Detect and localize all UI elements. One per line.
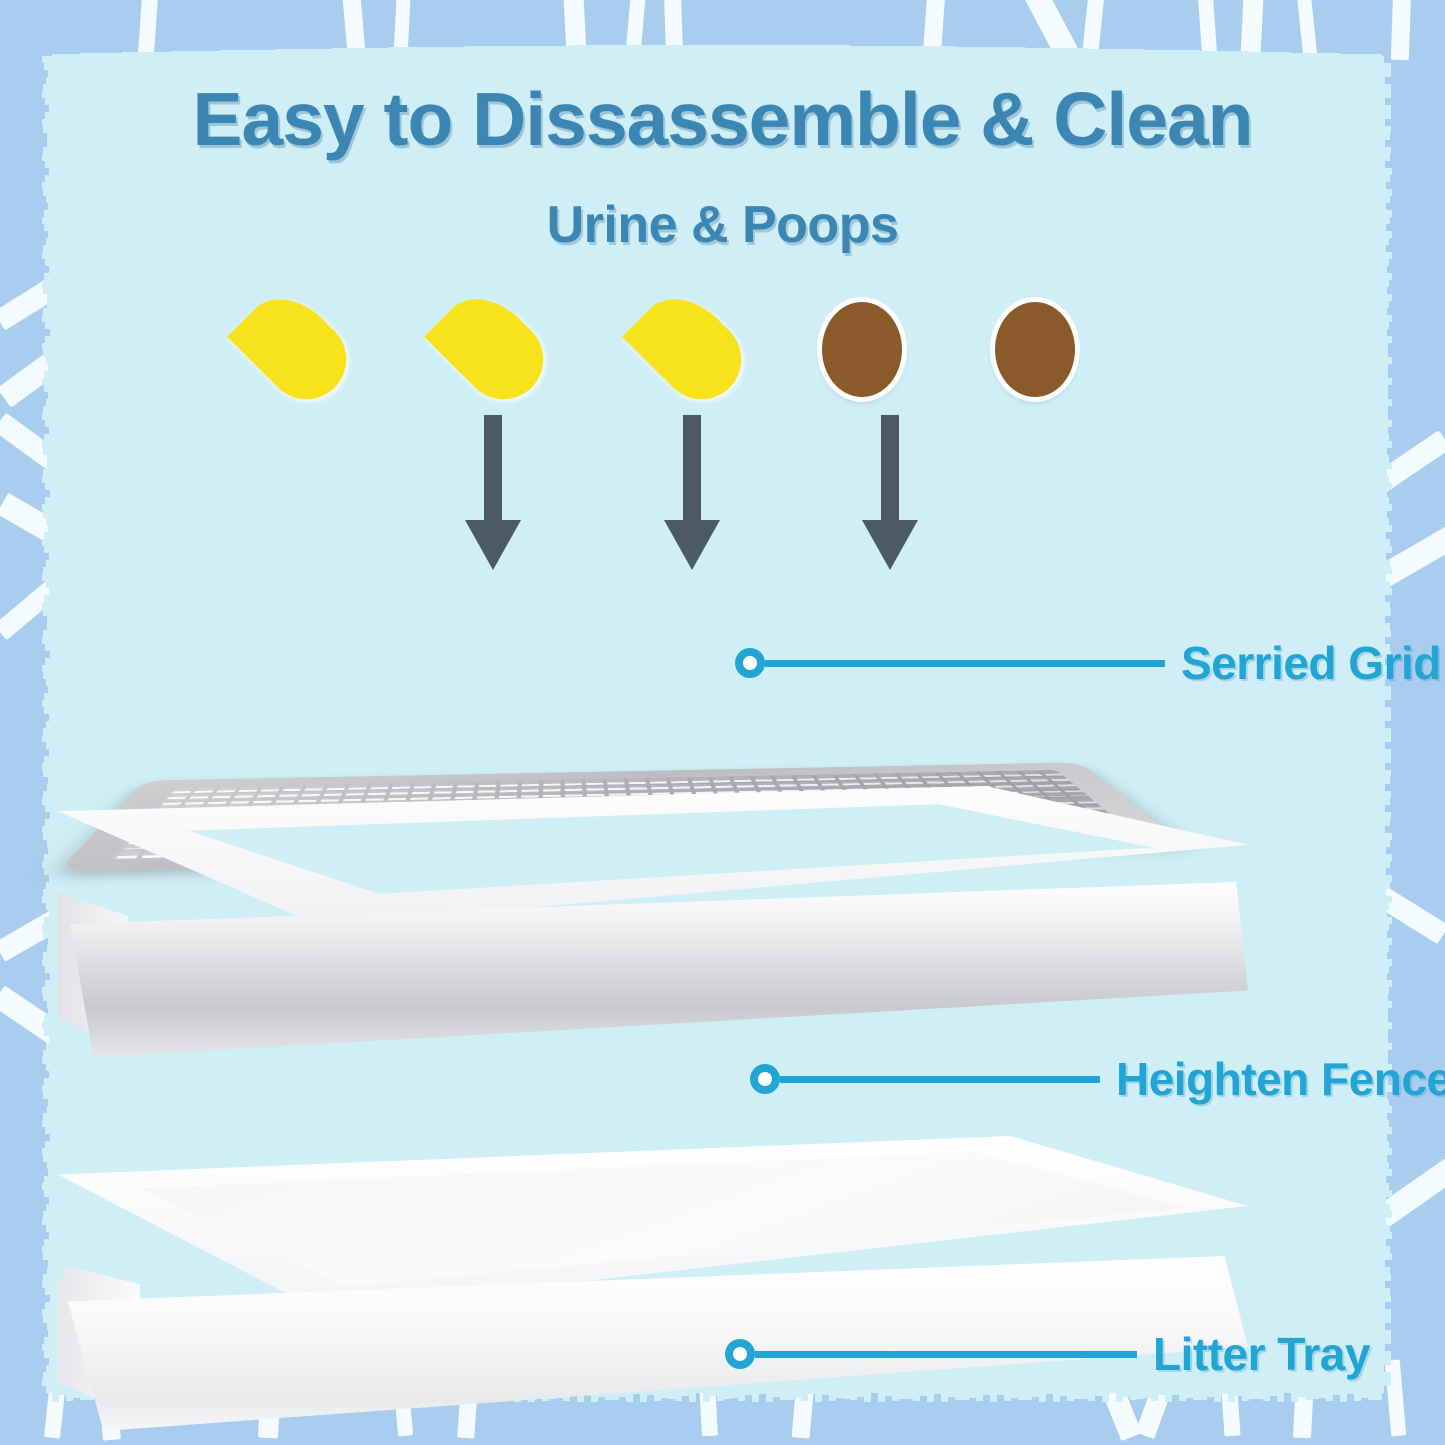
deckle-tooth xyxy=(1380,623,1390,630)
deckle-tooth xyxy=(43,1092,54,1099)
deckle-tooth xyxy=(59,54,66,58)
deckle-tooth xyxy=(1151,50,1158,58)
deckle-tooth xyxy=(1380,525,1392,532)
deckle-tooth xyxy=(46,560,54,567)
deckle-tooth xyxy=(696,45,703,58)
deckle-tooth xyxy=(304,49,311,58)
deckle-tooth xyxy=(857,46,864,58)
deckle-tooth xyxy=(332,48,339,58)
callout-label: Litter Tray xyxy=(1153,1327,1370,1381)
deckle-tooth xyxy=(395,47,402,58)
deckle-tooth xyxy=(892,46,899,58)
callout-leader-line xyxy=(780,1076,1100,1083)
deckle-tooth xyxy=(787,45,794,58)
deckle-tooth xyxy=(1380,469,1387,476)
deckle-tooth xyxy=(1380,1379,1391,1386)
deckle-tooth xyxy=(220,50,227,58)
deckle-tooth xyxy=(44,917,54,924)
deckle-tooth xyxy=(45,966,54,973)
deckle-tooth xyxy=(47,623,54,630)
deckle-tooth xyxy=(1380,875,1392,882)
deckle-tooth xyxy=(241,50,248,58)
deckle-tooth xyxy=(1380,441,1392,448)
deckle-tooth xyxy=(451,47,458,58)
deckle-tooth xyxy=(178,51,185,58)
deckle-tooth xyxy=(44,532,54,539)
deckle-tooth xyxy=(46,1064,54,1071)
deckle-tooth xyxy=(1380,168,1392,175)
deckle-tooth xyxy=(1319,53,1326,58)
deckle-tooth xyxy=(48,392,54,399)
deckle-tooth xyxy=(1298,1389,1305,1397)
deckle-tooth xyxy=(899,46,906,58)
deckle-tooth xyxy=(920,46,927,58)
deckle-tooth xyxy=(1380,1211,1392,1218)
deckle-tooth xyxy=(1221,51,1228,58)
callout-label: Heighten Fence xyxy=(1116,1052,1445,1106)
deckle-tooth xyxy=(50,329,54,336)
deckle-tooth xyxy=(47,1106,54,1113)
deckle-tooth xyxy=(801,45,808,58)
deckle-tooth xyxy=(48,1008,54,1015)
deckle-tooth xyxy=(752,45,759,58)
deckle-tooth xyxy=(913,46,920,58)
deckle-tooth xyxy=(1380,280,1389,287)
deckle-tooth xyxy=(381,48,388,58)
deckle-tooth xyxy=(521,46,528,58)
deckle-tooth xyxy=(1380,609,1391,616)
deckle-tooth xyxy=(1298,53,1305,58)
deckle-tooth xyxy=(1333,53,1340,58)
down-arrow-icon xyxy=(678,415,706,570)
deckle-tooth xyxy=(822,45,829,58)
deckle-tooth xyxy=(794,45,801,58)
deckle-tooth xyxy=(1368,1389,1375,1400)
deckle-tooth xyxy=(44,1239,54,1246)
deckle-tooth xyxy=(486,46,493,58)
deckle-tooth xyxy=(171,51,178,58)
deckle-tooth xyxy=(48,525,54,532)
deckle-tooth xyxy=(577,45,584,58)
deckle-tooth xyxy=(45,1288,54,1295)
deckle-tooth xyxy=(42,1218,54,1225)
deckle-tooth xyxy=(42,1183,54,1190)
deckle-tooth xyxy=(42,182,54,189)
deckle-tooth xyxy=(1270,1389,1277,1396)
deckle-tooth xyxy=(1380,973,1387,980)
deckle-tooth xyxy=(1380,399,1392,406)
deckle-tooth xyxy=(766,45,773,58)
deckle-tooth xyxy=(42,574,54,581)
deckle-tooth xyxy=(1277,1389,1284,1402)
deckle-tooth xyxy=(248,50,255,58)
deckle-tooth xyxy=(42,1281,54,1288)
deckle-tooth xyxy=(1263,1389,1270,1401)
deckle-tooth xyxy=(276,49,283,58)
deckle-tooth xyxy=(1067,48,1074,58)
deckle-tooth xyxy=(1380,938,1392,945)
deckle-tooth xyxy=(1380,581,1390,588)
deckle-tooth xyxy=(1380,595,1385,602)
deckle-tooth xyxy=(43,889,54,896)
deckle-tooth xyxy=(535,46,542,58)
deckle-tooth xyxy=(48,777,54,784)
deckle-tooth xyxy=(47,301,54,308)
deckle-tooth xyxy=(885,46,892,58)
deckle-tooth xyxy=(1053,48,1060,58)
deckle-tooth xyxy=(1380,1190,1392,1197)
deckle-tooth xyxy=(1380,427,1388,434)
deckle-tooth xyxy=(43,287,54,294)
deckle-tooth xyxy=(262,50,269,58)
deckle-tooth xyxy=(1123,49,1130,58)
deckle-tooth xyxy=(1305,53,1312,58)
deckle-tooth xyxy=(1380,805,1385,812)
deckle-tooth xyxy=(1380,987,1389,994)
deckle-tooth xyxy=(1380,476,1389,483)
deckle-tooth xyxy=(43,1113,54,1120)
deckle-tooth xyxy=(192,51,199,58)
deckle-tooth xyxy=(346,48,353,58)
deckle-tooth xyxy=(42,56,54,63)
deckle-tooth xyxy=(1380,1218,1386,1225)
deckle-tooth xyxy=(1380,385,1388,392)
deckle-tooth xyxy=(43,630,54,637)
deckle-tooth xyxy=(48,847,54,854)
deckle-tooth xyxy=(556,46,563,58)
deckle-tooth xyxy=(50,812,54,819)
deckle-tooth xyxy=(1380,413,1388,420)
deckle-tooth xyxy=(1380,567,1392,574)
deckle-tooth xyxy=(42,539,54,546)
deckle-tooth xyxy=(108,53,115,58)
deckle-tooth xyxy=(1277,52,1284,58)
deckle-tooth xyxy=(1380,1001,1392,1008)
deckle-tooth xyxy=(44,693,54,700)
deckle-tooth xyxy=(47,784,54,791)
deckle-tooth xyxy=(1380,273,1392,280)
deckle-tooth xyxy=(1380,182,1386,189)
deckle-tooth xyxy=(49,588,54,595)
deckle-tooth xyxy=(1368,54,1375,58)
deckle-tooth xyxy=(1380,378,1392,385)
deckle-tooth xyxy=(157,52,164,58)
deckle-tooth xyxy=(724,45,731,58)
page-title: Easy to Dissassemble & Clean xyxy=(0,76,1445,162)
deckle-tooth xyxy=(43,728,54,735)
deckle-tooth xyxy=(871,46,878,58)
deckle-tooth xyxy=(1380,511,1387,518)
deckle-tooth xyxy=(43,1253,54,1260)
deckle-tooth xyxy=(1256,52,1263,58)
deckle-tooth xyxy=(122,52,129,58)
deckle-tooth xyxy=(199,51,206,58)
deckle-tooth xyxy=(682,45,689,58)
deckle-tooth xyxy=(1256,1389,1263,1399)
deckle-tooth xyxy=(1380,574,1386,581)
deckle-tooth xyxy=(1380,539,1390,546)
deckle-tooth xyxy=(626,45,633,58)
deckle-tooth xyxy=(234,50,241,58)
deckle-tooth xyxy=(969,47,976,58)
deckle-tooth xyxy=(1200,51,1207,58)
deckle-tooth xyxy=(46,518,54,525)
deckle-tooth xyxy=(42,924,54,931)
deckle-tooth xyxy=(48,686,54,693)
deckle-tooth xyxy=(465,46,472,58)
deckle-tooth xyxy=(458,47,465,58)
deckle-tooth xyxy=(906,46,913,58)
deckle-tooth xyxy=(1242,51,1249,58)
deckle-tooth xyxy=(1380,1295,1391,1302)
deckle-tooth xyxy=(50,973,54,980)
deckle-tooth xyxy=(1380,784,1385,791)
deckle-tooth xyxy=(500,46,507,58)
arrow-head xyxy=(465,520,521,570)
callout-leader-line xyxy=(755,1351,1137,1358)
deckle-tooth xyxy=(1228,51,1235,58)
deckle-tooth xyxy=(836,45,843,58)
deckle-tooth xyxy=(507,46,514,58)
deckle-tooth xyxy=(43,791,54,798)
deckle-tooth xyxy=(1380,161,1385,168)
deckle-tooth xyxy=(47,616,54,623)
deckle-tooth xyxy=(1380,1330,1391,1337)
deckle-tooth xyxy=(1380,1246,1390,1253)
deckle-tooth xyxy=(612,45,619,58)
page-subtitle: Urine & Poops xyxy=(0,195,1445,255)
deckle-tooth xyxy=(206,51,213,58)
deckle-tooth xyxy=(42,735,54,742)
deckle-tooth xyxy=(703,45,710,58)
callout-litter-tray: Litter Tray xyxy=(725,1327,1370,1381)
deckle-tooth xyxy=(49,553,54,560)
deckle-tooth xyxy=(1137,49,1144,58)
deckle-tooth xyxy=(44,385,54,392)
deckle-tooth xyxy=(325,49,332,58)
deckle-tooth xyxy=(1380,546,1392,553)
deckle-tooth xyxy=(1380,336,1392,343)
deckle-tooth xyxy=(42,1085,54,1092)
deckle-tooth xyxy=(43,1211,54,1218)
deckle-tooth xyxy=(43,511,54,518)
deckle-tooth xyxy=(1380,1386,1384,1393)
deckle-tooth xyxy=(1018,47,1025,58)
deckle-tooth xyxy=(731,45,738,58)
deckle-tooth xyxy=(45,483,54,490)
deckle-tooth xyxy=(430,47,437,58)
deckle-tooth xyxy=(1380,1162,1389,1169)
deckle-tooth xyxy=(1102,49,1109,58)
deckle-tooth xyxy=(46,1204,54,1211)
deckle-tooth xyxy=(1380,854,1392,861)
deckle-tooth xyxy=(49,168,54,175)
deckle-tooth xyxy=(1380,1134,1387,1141)
deckle-tooth xyxy=(815,45,822,58)
deckle-tooth xyxy=(46,679,54,686)
deckle-tooth xyxy=(42,700,54,707)
deckle-tooth xyxy=(1032,48,1039,58)
deckle-tooth xyxy=(1380,861,1390,868)
deckle-tooth xyxy=(1340,1389,1347,1402)
deckle-tooth xyxy=(808,45,815,58)
deckle-tooth xyxy=(1380,371,1388,378)
deckle-tooth xyxy=(46,1365,54,1372)
deckle-tooth xyxy=(1380,700,1384,707)
deckle-tooth xyxy=(388,47,395,58)
deckle-tooth xyxy=(1380,448,1387,455)
deckle-tooth xyxy=(1165,50,1172,58)
deckle-tooth xyxy=(1380,833,1392,840)
deckle-tooth xyxy=(46,1386,54,1393)
deckle-tooth xyxy=(1380,1358,1391,1365)
deckle-tooth xyxy=(43,672,54,679)
deckle-tooth xyxy=(66,54,73,58)
deckle-tooth xyxy=(42,861,54,868)
deckle-tooth xyxy=(43,469,54,476)
deckle-tooth xyxy=(1109,49,1116,58)
poop-blob-icon xyxy=(995,302,1075,397)
deckle-tooth xyxy=(1333,1389,1340,1395)
deckle-tooth xyxy=(479,46,486,58)
deckle-tooth xyxy=(1249,52,1256,58)
deckle-tooth xyxy=(1380,763,1385,770)
deckle-tooth xyxy=(1380,728,1391,735)
deckle-tooth xyxy=(48,938,54,945)
deckle-tooth xyxy=(745,45,752,58)
deckle-tooth xyxy=(1380,588,1392,595)
deckle-tooth xyxy=(1380,889,1386,896)
deckle-tooth xyxy=(1380,1337,1391,1344)
deckle-tooth xyxy=(1380,532,1386,539)
deckle-tooth xyxy=(42,763,54,770)
deckle-tooth xyxy=(46,399,54,406)
deckle-tooth xyxy=(605,45,612,58)
deckle-tooth xyxy=(43,1316,54,1323)
litter-tray-part xyxy=(58,1136,1248,1445)
deckle-tooth xyxy=(45,658,54,665)
deckle-tooth xyxy=(339,48,346,58)
deckle-tooth xyxy=(43,931,54,938)
deckle-tooth xyxy=(1380,819,1390,826)
deckle-tooth xyxy=(1380,315,1392,322)
deckle-tooth xyxy=(1172,50,1179,58)
deckle-tooth xyxy=(44,1078,54,1085)
brush-stroke xyxy=(1391,0,1411,60)
deckle-tooth xyxy=(1074,48,1081,58)
deckle-tooth xyxy=(1380,1267,1390,1274)
heighten-fence-part xyxy=(58,786,1248,1086)
arrow-head xyxy=(862,520,918,570)
deckle-tooth xyxy=(1380,1309,1391,1316)
deckle-tooth xyxy=(1380,1232,1392,1239)
deckle-tooth xyxy=(1380,966,1389,973)
deckle-tooth xyxy=(1263,52,1270,58)
deckle-tooth xyxy=(591,45,598,58)
deckle-tooth xyxy=(269,50,276,58)
deckle-tooth xyxy=(47,1267,54,1274)
deckle-tooth xyxy=(1291,1389,1298,1402)
deckle-tooth xyxy=(1380,497,1389,504)
deckle-tooth xyxy=(444,47,451,58)
deckle-tooth xyxy=(1380,1183,1389,1190)
deckle-tooth xyxy=(42,1022,54,1029)
deckle-tooth xyxy=(1380,1029,1388,1036)
deckle-tooth xyxy=(1380,1351,1391,1358)
deckle-tooth xyxy=(1380,1169,1392,1176)
deckle-tooth xyxy=(45,497,54,504)
deckle-tooth xyxy=(1380,1127,1392,1134)
deckle-tooth xyxy=(42,280,54,287)
deckle-tooth xyxy=(1249,1389,1256,1399)
deckle-tooth xyxy=(1025,48,1032,58)
deckle-tooth xyxy=(563,46,570,58)
deckle-tooth xyxy=(1380,322,1389,329)
deckle-tooth xyxy=(1319,1389,1326,1398)
deckle-tooth xyxy=(1380,434,1389,441)
deckle-tooth xyxy=(1347,54,1354,58)
deckle-tooth xyxy=(48,1099,54,1106)
deckle-tooth xyxy=(542,46,549,58)
deckle-tooth xyxy=(941,46,948,58)
deckle-tooth xyxy=(997,47,1004,58)
deckle-tooth xyxy=(49,749,54,756)
deckle-tooth xyxy=(1207,51,1214,58)
deckle-tooth xyxy=(45,175,54,182)
deckle-tooth xyxy=(1380,777,1390,784)
deckle-tooth xyxy=(1380,812,1391,819)
deckle-tooth xyxy=(115,53,122,58)
deckle-tooth xyxy=(48,1169,54,1176)
deckle-tooth xyxy=(87,53,94,58)
deckle-tooth xyxy=(1193,50,1200,58)
deckle-tooth xyxy=(43,406,54,413)
deckle-tooth xyxy=(44,273,54,280)
deckle-tooth xyxy=(1380,357,1392,364)
deckle-tooth xyxy=(47,462,54,469)
deckle-tooth xyxy=(42,826,54,833)
deckle-tooth xyxy=(42,602,54,609)
deckle-tooth xyxy=(45,644,54,651)
deckle-tooth xyxy=(934,46,941,58)
deckle-tooth xyxy=(44,63,54,70)
deckle-tooth xyxy=(1284,52,1291,58)
deckle-tooth xyxy=(45,420,54,427)
deckle-tooth xyxy=(44,854,54,861)
deckle-tooth xyxy=(1011,47,1018,58)
deckle-tooth xyxy=(49,266,54,273)
deckle-tooth xyxy=(1179,50,1186,58)
deckle-tooth xyxy=(878,46,885,58)
deckle-tooth xyxy=(129,52,136,58)
deckle-tooth xyxy=(45,980,54,987)
deckle-tooth xyxy=(360,48,367,58)
deckle-tooth xyxy=(164,52,171,58)
deckle-tooth xyxy=(43,1372,54,1379)
deckle-tooth xyxy=(48,364,54,371)
deckle-tooth xyxy=(42,896,54,903)
deckle-tooth xyxy=(1380,693,1391,700)
deckle-tooth xyxy=(42,343,54,350)
deckle-tooth xyxy=(1380,1197,1386,1204)
deckle-tooth xyxy=(44,371,54,378)
deckle-tooth xyxy=(1380,994,1388,1001)
deckle-tooth xyxy=(1380,1155,1387,1162)
deckle-tooth xyxy=(1380,770,1391,777)
deckle-tooth xyxy=(42,315,54,322)
deckle-tooth xyxy=(318,49,325,58)
deckle-tooth xyxy=(1380,1260,1385,1267)
